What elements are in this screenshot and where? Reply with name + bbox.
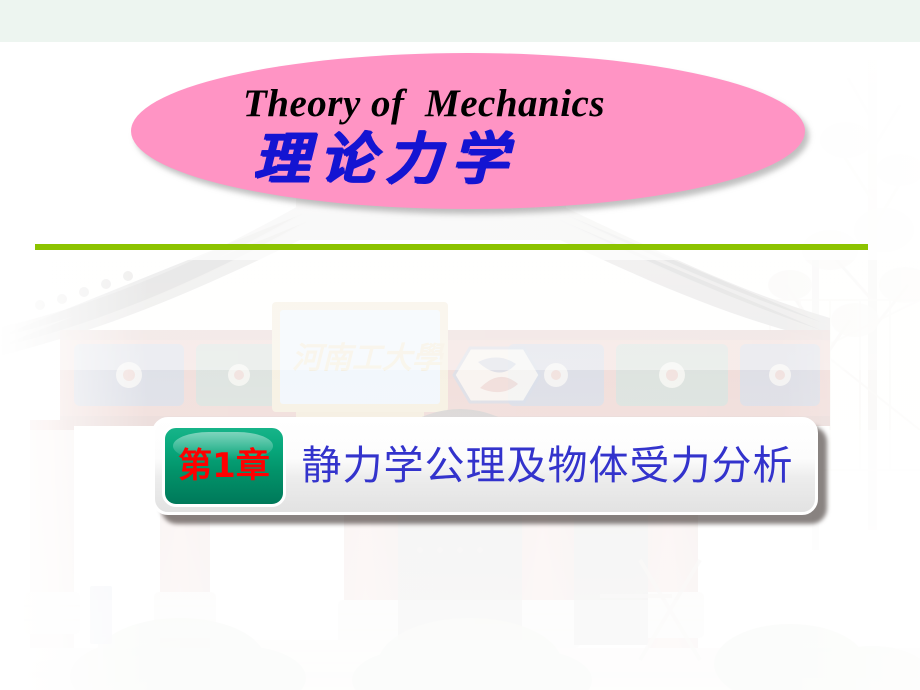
chapter-number-badge: 第1章: [162, 425, 286, 507]
presentation-slide: 河南工大學: [0, 0, 920, 690]
course-title-chinese: 理论力学: [131, 129, 805, 191]
banner-panel: 第1章 静力学公理及物体受力分析: [152, 417, 818, 515]
chapter-banner: 第1章 静力学公理及物体受力分析: [152, 417, 818, 515]
course-title-ellipse: Theory of Mechanics 理论力学: [131, 53, 805, 209]
chapter-heading: 静力学公理及物体受力分析: [286, 442, 815, 490]
top-accent-band: [0, 0, 920, 42]
course-title-english: Theory of Mechanics: [131, 81, 805, 126]
chapter-number-label: 第1章: [178, 449, 270, 483]
green-divider-rule: [35, 244, 868, 250]
